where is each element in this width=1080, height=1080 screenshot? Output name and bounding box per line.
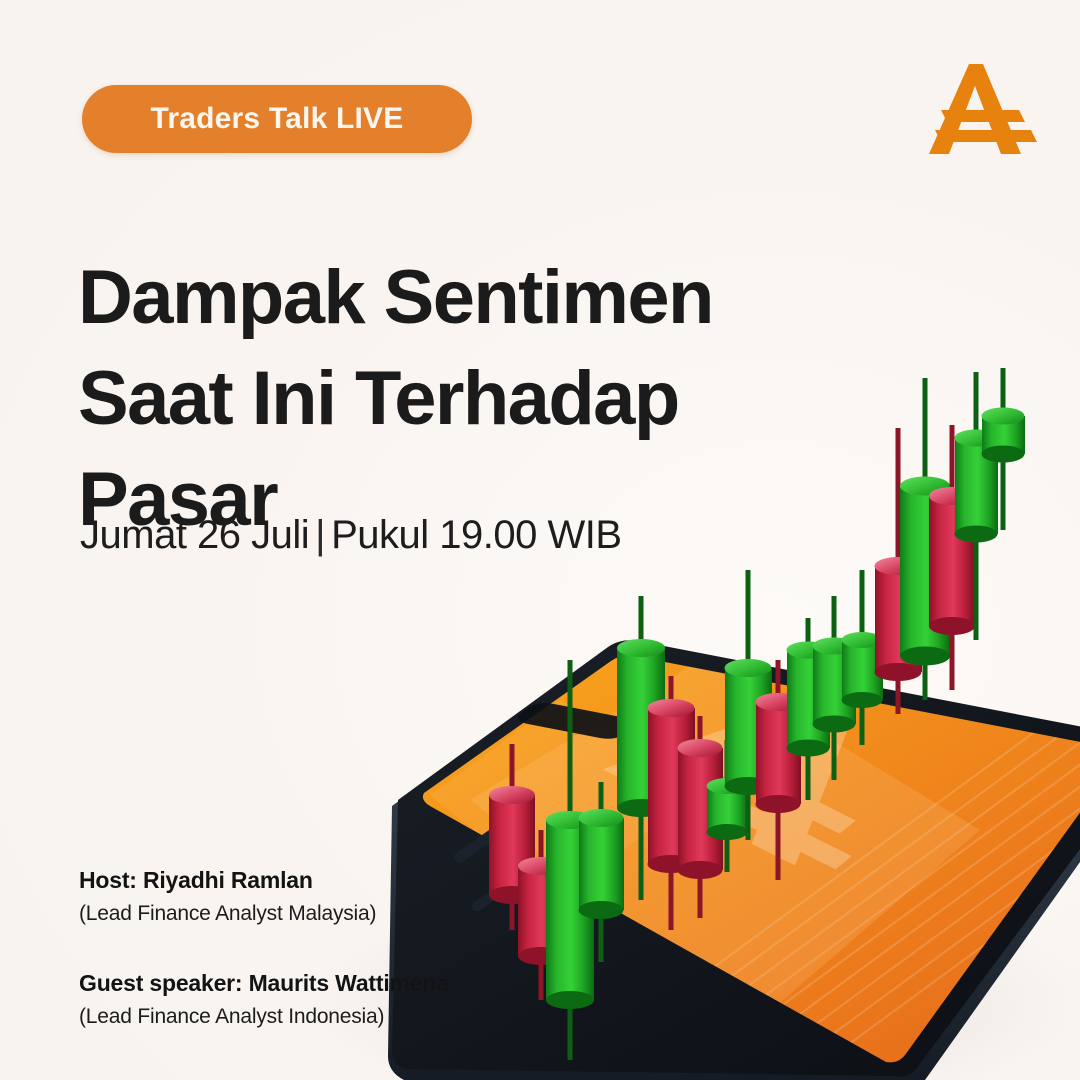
speakers-block: Host: Riyadhi Ramlan (Lead Finance Analy…: [79, 866, 449, 1030]
event-date: Jumat 26 Juli: [80, 513, 309, 557]
live-badge: Traders Talk LIVE: [82, 85, 472, 153]
headline-line-2: Saat Ini Terhadap: [78, 348, 798, 449]
host-block: Host: Riyadhi Ramlan (Lead Finance Analy…: [79, 866, 449, 927]
page-title: Dampak Sentimen Saat Ini Terhadap Pasar: [78, 247, 798, 550]
axi-a-logo: [925, 58, 1043, 160]
guest-speaker-block: Guest speaker: Maurits Wattimena (Lead F…: [79, 969, 449, 1030]
datetime-separator: |: [309, 513, 331, 557]
event-datetime: Jumat 26 Juli|Pukul 19.00 WIB: [80, 513, 622, 558]
host-name: Host: Riyadhi Ramlan: [79, 866, 449, 895]
live-badge-label: Traders Talk LIVE: [151, 104, 404, 134]
guest-speaker-name: Guest speaker: Maurits Wattimena: [79, 969, 449, 998]
poster-canvas: Traders Talk LIVE Dampak Sentimen Saat I…: [0, 0, 1080, 1080]
event-time: Pukul 19.00 WIB: [331, 513, 621, 557]
host-role: (Lead Finance Analyst Malaysia): [79, 900, 449, 927]
guest-speaker-role: (Lead Finance Analyst Indonesia): [79, 1003, 449, 1030]
headline-line-1: Dampak Sentimen: [78, 247, 798, 348]
